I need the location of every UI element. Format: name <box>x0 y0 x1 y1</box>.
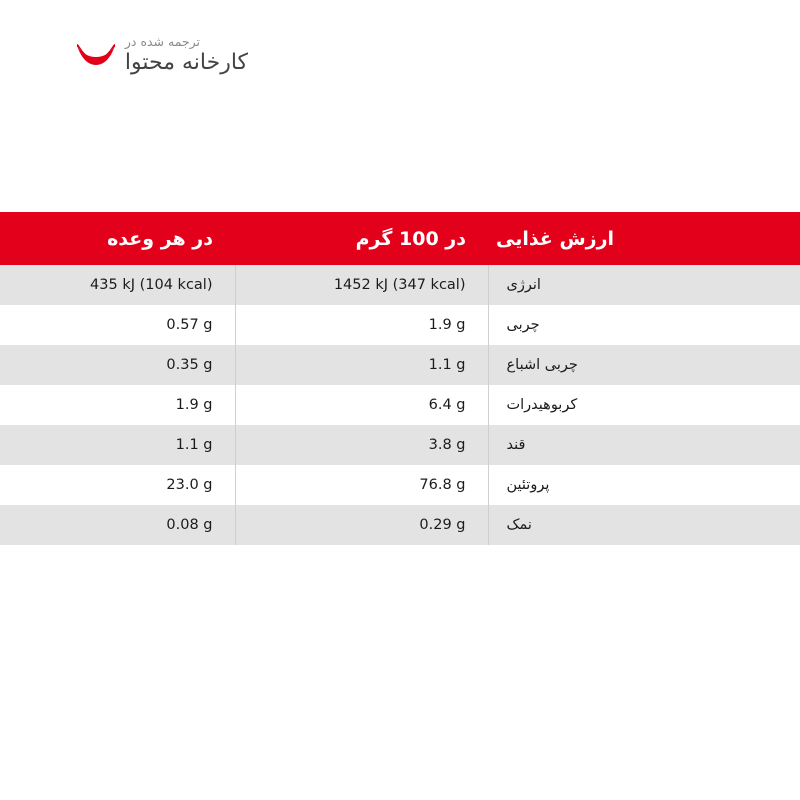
table-body: انرژی 1452 kJ (347 kcal) 435 kJ (104 kca… <box>0 265 800 545</box>
watermark-subtitle: ترجمه شده در <box>125 36 200 49</box>
cell-energy-per-serving: 435 kJ (104 kcal) <box>0 265 235 305</box>
row-label-text: پروتئین <box>489 477 800 493</box>
table-row: نمک 0.29 g 0.08 g <box>0 505 800 545</box>
watermark-text-block: ترجمه شده در کارخانه محتوا <box>125 36 248 74</box>
table-row: چربی 1.9 g 0.57 g <box>0 305 800 345</box>
cell-saturated-fat-per-100g: 1.1 g <box>235 345 488 385</box>
cell-salt-per-serving: 0.08 g <box>0 505 235 545</box>
watermark-brand-name: کارخانه محتوا <box>125 52 248 74</box>
row-label-salt: نمک <box>488 505 800 545</box>
cell-saturated-fat-per-serving: 0.35 g <box>0 345 235 385</box>
cell-protein-per-100g: 76.8 g <box>235 465 488 505</box>
cell-sugar-per-100g: 3.8 g <box>235 425 488 465</box>
row-label-text: قند <box>489 437 800 453</box>
cell-fat-per-100g: 1.9 g <box>235 305 488 345</box>
row-label-text: چربی اشباع <box>489 357 800 373</box>
table-header-row: ارزش غذایی در 100 گرم در هر وعده <box>0 212 800 265</box>
red-smile-arc-icon <box>73 35 119 75</box>
column-header-nutrient: ارزش غذایی <box>488 212 800 265</box>
row-label-text: چربی <box>489 317 800 333</box>
table-row: انرژی 1452 kJ (347 kcal) 435 kJ (104 kca… <box>0 265 800 305</box>
cell-carbohydrate-per-100g: 6.4 g <box>235 385 488 425</box>
row-label-text: انرژی <box>489 277 800 293</box>
row-label-carbohydrate: کربوهیدرات <box>488 385 800 425</box>
nutrition-facts-table: ارزش غذایی در 100 گرم در هر وعده انرژی 1… <box>0 212 800 545</box>
table-header: ارزش غذایی در 100 گرم در هر وعده <box>0 212 800 265</box>
cell-sugar-per-serving: 1.1 g <box>0 425 235 465</box>
column-header-per-100g: در 100 گرم <box>235 212 488 265</box>
row-label-text: کربوهیدرات <box>489 397 800 413</box>
column-header-per-serving: در هر وعده <box>0 212 235 265</box>
content-factory-watermark: ترجمه شده در کارخانه محتوا <box>28 20 248 90</box>
column-header-nutrient-label: ارزش غذایی <box>488 228 778 250</box>
table-row: کربوهیدرات 6.4 g 1.9 g <box>0 385 800 425</box>
row-label-sugar: قند <box>488 425 800 465</box>
cell-fat-per-serving: 0.57 g <box>0 305 235 345</box>
cell-protein-per-serving: 23.0 g <box>0 465 235 505</box>
row-label-energy: انرژی <box>488 265 800 305</box>
cell-energy-per-100g: 1452 kJ (347 kcal) <box>235 265 488 305</box>
table-row: قند 3.8 g 1.1 g <box>0 425 800 465</box>
row-label-text: نمک <box>489 517 800 533</box>
row-label-fat: چربی <box>488 305 800 345</box>
row-label-protein: پروتئین <box>488 465 800 505</box>
table-row: چربی اشباع 1.1 g 0.35 g <box>0 345 800 385</box>
cell-carbohydrate-per-serving: 1.9 g <box>0 385 235 425</box>
table-row: پروتئین 76.8 g 23.0 g <box>0 465 800 505</box>
row-label-saturated-fat: چربی اشباع <box>488 345 800 385</box>
cell-salt-per-100g: 0.29 g <box>235 505 488 545</box>
